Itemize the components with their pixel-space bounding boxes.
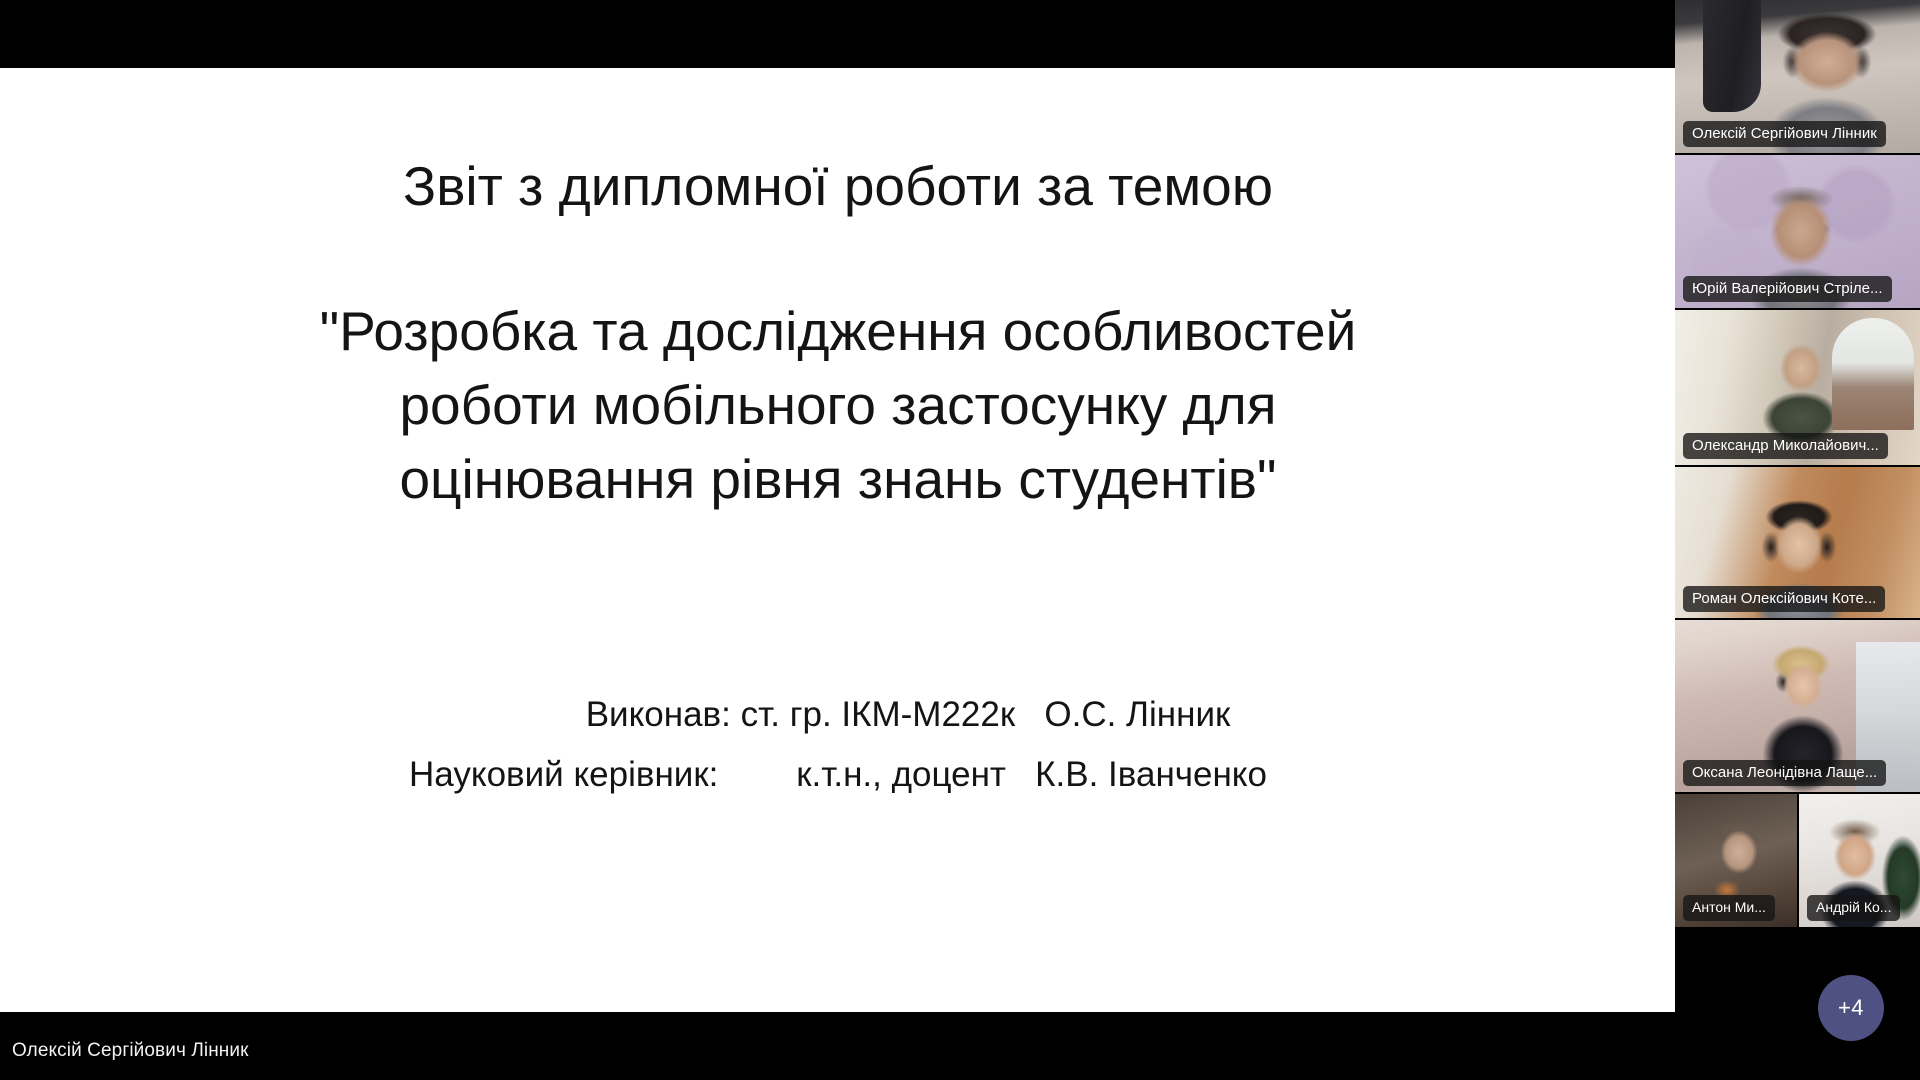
author-label: Виконав: [586, 685, 731, 745]
slide-title-line-3: оцінювання рівня знань студентів" [150, 442, 1526, 516]
credit-row-author: Виконав: ст. гр. ІКМ-М222к О.С. Лінник [0, 685, 1676, 745]
participant-tile[interactable]: Антон Ми... [1675, 794, 1797, 927]
credit-gap [731, 685, 741, 745]
supervisor-name: К.В. Іванченко [1035, 745, 1267, 805]
credit-gap [1006, 745, 1035, 805]
participant-tile[interactable]: Юрій Валерійович Стріле... [1675, 155, 1920, 308]
participant-name-tag: Олексій Сергійович Лінник [1683, 121, 1886, 147]
participant-tile[interactable]: Оксана Леонідівна Лаще... [1675, 620, 1920, 792]
author-name: О.С. Лінник [1044, 685, 1230, 745]
participant-name-tag: Антон Ми... [1683, 895, 1775, 921]
credit-gap [718, 745, 796, 805]
active-speaker-label: Олексій Сергійович Лінник [12, 1040, 249, 1062]
participant-name-tag: Роман Олексійович Коте... [1683, 586, 1885, 612]
credit-gap [1015, 685, 1044, 745]
participant-name-tag: Олександр Миколайович... [1683, 433, 1888, 459]
participant-filmstrip[interactable]: Олексій Сергійович Лінник Юрій Валерійов… [1675, 0, 1920, 1080]
author-group: ст. гр. ІКМ-М222к [741, 685, 1016, 745]
credit-row-supervisor: Науковий керівник: к.т.н., доцент К.В. І… [0, 745, 1676, 805]
slide-title-line-1: "Розробка та дослідження особливостей [150, 294, 1526, 368]
overflow-participants-badge[interactable]: +4 [1818, 975, 1884, 1041]
slide-credits: Виконав: ст. гр. ІКМ-М222к О.С. Лінник Н… [0, 685, 1676, 805]
participant-name-tag: Юрій Валерійович Стріле... [1683, 276, 1892, 302]
meeting-screen: Звіт з дипломної роботи за темою "Розроб… [0, 0, 1920, 1080]
slide-title: "Розробка та дослідження особливостей ро… [150, 294, 1526, 516]
participant-name-tag: Андрій Ко... [1807, 895, 1900, 921]
shared-screen-region[interactable]: Звіт з дипломної роботи за темою "Розроб… [0, 0, 1676, 1080]
supervisor-degree: к.т.н., доцент [796, 745, 1006, 805]
participant-tile[interactable]: Олександр Миколайович... [1675, 310, 1920, 465]
participant-name-tag: Оксана Леонідівна Лаще... [1683, 760, 1886, 786]
participant-tile[interactable]: Роман Олексійович Коте... [1675, 467, 1920, 618]
supervisor-label: Науковий керівник: [409, 745, 718, 805]
slide-heading: Звіт з дипломної роботи за темою [0, 154, 1676, 218]
participant-tile[interactable]: Андрій Ко... [1799, 794, 1920, 927]
presentation-slide[interactable]: Звіт з дипломної роботи за темою "Розроб… [0, 68, 1676, 1012]
slide-title-line-2: роботи мобільного застосунку для [150, 368, 1526, 442]
participant-tile[interactable]: Олексій Сергійович Лінник [1675, 0, 1920, 153]
